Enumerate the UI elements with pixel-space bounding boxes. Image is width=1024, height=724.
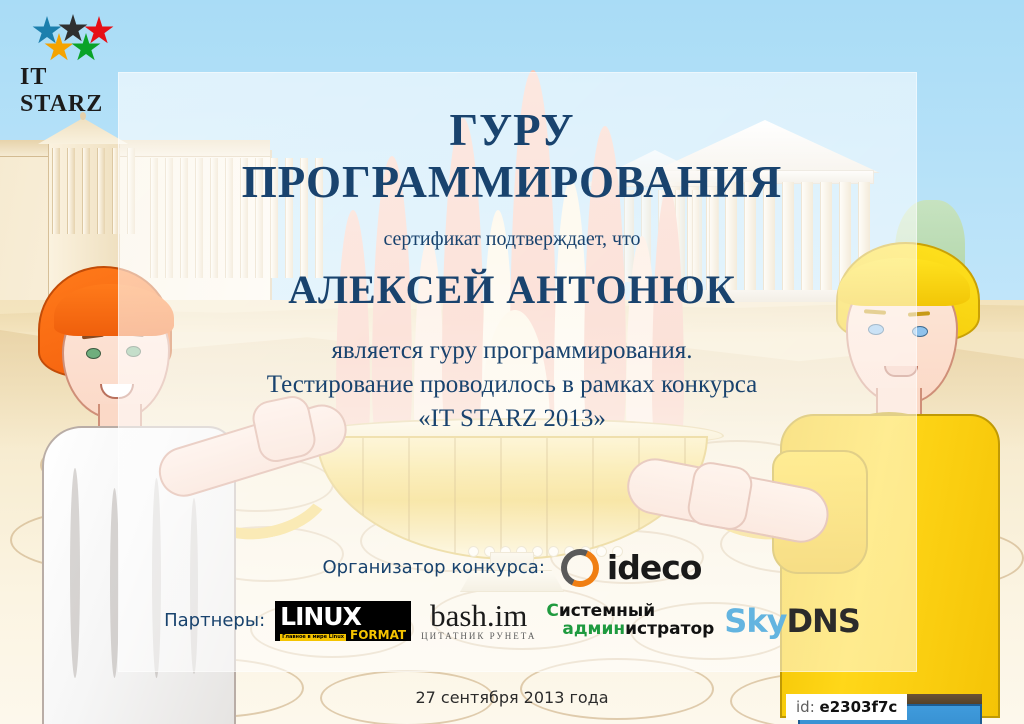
skydns-logo: SkyDNS	[724, 605, 860, 637]
ideco-wordmark: ideco	[607, 548, 702, 587]
sysadmin-logo: Системный администратор	[546, 603, 714, 638]
sysadmin-line2-black: истратор	[625, 619, 714, 639]
linux-format-tagline: Главное в мире Linux	[280, 634, 346, 641]
certificate-title-line2: ПРОГРАММИРОВАНИЯ	[0, 160, 1024, 205]
ideco-logo: ideco	[561, 548, 702, 587]
sysadmin-line2-green: админ	[562, 619, 625, 639]
bash-im-subtitle: ЦИТАТНИК РУНЕТА	[421, 632, 536, 641]
certificate-id-value: e2303f7c	[820, 698, 898, 716]
logo-stars	[14, 14, 118, 62]
certificate-confirms-text: сертификат подтверждает, что	[0, 228, 1024, 251]
certificate-title-line1: ГУРУ	[0, 108, 1024, 153]
recipient-name: АЛЕКСЕЙ АНТОНЮК	[0, 266, 1024, 313]
skydns-dns: DNS	[786, 602, 859, 640]
bash-im-wordmark: bash.im	[421, 600, 536, 631]
it-starz-logo: IT STARZ	[14, 14, 118, 90]
certificate-body-line1: является гуру программирования.	[0, 334, 1024, 367]
partners-row: Партнеры: LINUX Главное в мире Linux FOR…	[0, 600, 1024, 641]
linux-format-logo: LINUX Главное в мире Linux FORMAT	[275, 601, 411, 641]
it-starz-wordmark: IT STARZ	[14, 64, 118, 118]
sysadmin-line2: администратор	[562, 621, 714, 638]
linux-format-bottom: FORMAT	[350, 629, 406, 641]
organizer-label: Организатор конкурса:	[323, 557, 545, 578]
certificate-body-line3: «IT STARZ 2013»	[0, 402, 1024, 435]
organizer-row: Организатор конкурса: ideco	[0, 548, 1024, 587]
linux-format-top: LINUX	[280, 604, 406, 629]
certificate-canvas: ГУРУ ПРОГРАММИРОВАНИЯ сертификат подтвер…	[0, 0, 1024, 724]
star-black-icon	[58, 14, 88, 44]
certificate-id-badge: id: e2303f7c	[786, 694, 907, 720]
sysadmin-line1-green: С	[546, 601, 558, 621]
certificate-id-label: id:	[796, 698, 815, 716]
bash-im-logo: bash.im ЦИТАТНИК РУНЕТА	[421, 600, 536, 641]
ideco-swoosh-icon	[561, 549, 599, 587]
skydns-sky: Sky	[724, 602, 786, 640]
partners-label: Партнеры:	[164, 610, 265, 631]
certificate-body-line2: Тестирование проводилось в рамках конкур…	[0, 368, 1024, 401]
